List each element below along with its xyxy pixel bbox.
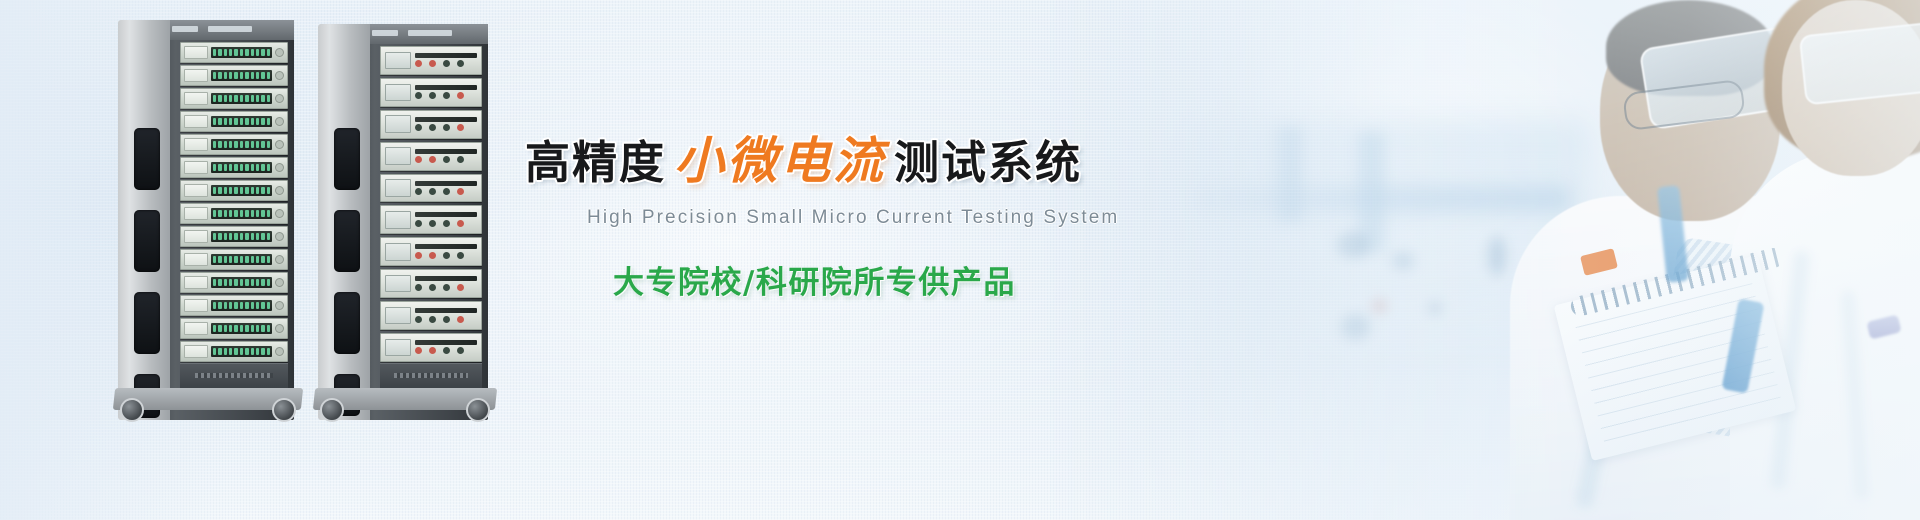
channel-led [256,164,259,170]
channel-led [213,325,216,331]
module-front-panel [184,345,208,359]
rack-caster [120,398,144,422]
terminal-black [443,124,450,131]
module-terminal-row [415,315,477,323]
rack-module [180,295,288,316]
headline-subtitle-english: High Precision Small Micro Current Testi… [587,207,1165,229]
channel-led [234,302,237,308]
channel-led [229,118,232,124]
rack-brand-label [372,28,480,37]
channel-led [261,256,264,262]
rack-cabinet [362,24,488,420]
channel-led [224,49,227,55]
channel-led [256,210,259,216]
channel-led [229,302,232,308]
terminal-red [457,92,464,99]
channel-led [267,210,270,216]
module-display [385,275,411,293]
rack-module [180,341,288,362]
channel-led [229,256,232,262]
module-body [415,51,477,71]
channel-led [224,302,227,308]
channel-led [240,210,243,216]
module-display [385,243,411,261]
channel-led [251,256,254,262]
rack-module [180,42,288,63]
rack-caster [272,398,296,422]
channel-led [224,141,227,147]
terminal-black [429,92,436,99]
channel-led [213,95,216,101]
module-channel-strip [211,323,272,334]
channel-led [224,118,227,124]
channel-led [245,118,248,124]
channel-led [267,49,270,55]
channel-led [229,325,232,331]
channel-led [267,187,270,193]
channel-led [256,302,259,308]
channel-led [256,187,259,193]
terminal-black [415,316,422,323]
channel-led [256,233,259,239]
module-front-panel [184,299,208,313]
channel-led [213,348,216,354]
rack-module-stack [380,46,482,362]
channel-led [224,279,227,285]
rack-module [380,142,482,171]
channel-led [245,210,248,216]
channel-led [234,118,237,124]
module-knob [275,301,284,310]
module-front-panel [184,230,208,244]
channel-led [240,279,243,285]
module-display [385,307,411,325]
channel-led [251,118,254,124]
rack-top-cap [162,20,294,40]
channel-led [218,187,221,193]
channel-led [213,72,216,78]
channel-led [224,325,227,331]
channel-led [229,164,232,170]
terminal-black [443,156,450,163]
rack-module [380,205,482,234]
terminal-red [415,252,422,259]
channel-led [234,49,237,55]
channel-led [213,118,216,124]
channel-led [261,302,264,308]
channel-led [218,49,221,55]
module-front-panel [184,184,208,198]
channel-led [234,187,237,193]
rack-brand-label [172,24,286,33]
channel-led [213,187,216,193]
module-display [385,211,411,229]
channel-led [261,72,264,78]
channel-led [213,302,216,308]
channel-led [261,118,264,124]
channel-led [256,325,259,331]
channel-led [240,325,243,331]
module-terminal-row [415,92,477,100]
channel-led [256,95,259,101]
channel-led [234,256,237,262]
channel-led [267,325,270,331]
channel-led [240,164,243,170]
channel-led [229,233,232,239]
channel-led [224,164,227,170]
module-knob [275,232,284,241]
module-knob [275,71,284,80]
rack-module [180,203,288,224]
module-front-panel [184,138,208,152]
module-body [415,210,477,230]
module-terminal-row [415,188,477,196]
channel-led [256,141,259,147]
channel-led [245,141,248,147]
terminal-black [443,220,450,227]
terminal-black [443,60,450,67]
module-channel-strip [211,47,272,58]
module-readout-bar [415,212,477,217]
module-channel-strip [211,139,272,150]
channel-led [234,325,237,331]
channel-led [245,233,248,239]
rack-module [180,180,288,201]
channel-led [240,95,243,101]
terminal-black [429,188,436,195]
channel-led [261,164,264,170]
module-channel-strip [211,208,272,219]
module-front-panel [184,253,208,267]
terminal-black [443,284,450,291]
module-body [415,146,477,166]
channel-led [267,72,270,78]
module-channel-strip [211,116,272,127]
module-channel-strip [211,70,272,81]
terminal-red [415,60,422,67]
channel-led [224,187,227,193]
channel-led [234,95,237,101]
channel-led [229,72,232,78]
channel-led [267,118,270,124]
module-terminal-row [415,347,477,355]
channel-led [213,49,216,55]
rack-module [380,237,482,266]
rack-module [180,65,288,86]
channel-led [261,348,264,354]
channel-led [251,49,254,55]
module-knob [275,48,284,57]
terminal-black [429,284,436,291]
rack-module [180,111,288,132]
channel-led [261,325,264,331]
channel-led [240,141,243,147]
channel-led [213,164,216,170]
module-display [385,52,411,70]
module-front-panel [184,115,208,129]
module-knob [275,117,284,126]
channel-led [251,72,254,78]
channel-led [267,95,270,101]
channel-led [218,348,221,354]
rack-module [380,174,482,203]
module-knob [275,347,284,356]
channel-led [234,141,237,147]
module-readout-bar [415,181,477,186]
channel-led [245,164,248,170]
module-readout-bar [415,149,477,154]
channel-led [245,72,248,78]
channel-led [218,141,221,147]
module-channel-strip [211,346,272,357]
module-readout-bar [415,244,477,249]
instrument-rack-multichannel [118,20,294,420]
channel-led [251,164,254,170]
module-channel-strip [211,231,272,242]
channel-led [229,279,232,285]
channel-led [240,302,243,308]
banner-text-block: 高精度小微电流测试系统 High Precision Small Micro C… [525,130,1165,302]
headline-part2: 小微电流 [666,131,894,190]
channel-led [218,233,221,239]
channel-led [234,210,237,216]
module-front-panel [184,69,208,83]
channel-led [234,164,237,170]
channel-led [234,72,237,78]
module-readout-bar [415,340,477,345]
terminal-black [457,252,464,259]
rack-side-cutout [134,128,160,190]
module-terminal-row [415,251,477,259]
rack-module [380,110,482,139]
channel-led [240,256,243,262]
channel-led [234,348,237,354]
rack-module [180,249,288,270]
rack-side-cutout [334,292,360,354]
channel-led [240,233,243,239]
channel-led [256,49,259,55]
headline-part3: 测试系统 [894,136,1082,189]
module-display [385,147,411,165]
terminal-black [457,347,464,354]
channel-led [224,233,227,239]
module-body [415,82,477,102]
channel-led [267,302,270,308]
module-channel-strip [211,162,272,173]
terminal-black [443,188,450,195]
channel-led [245,187,248,193]
channel-led [245,95,248,101]
channel-led [224,95,227,101]
channel-led [251,187,254,193]
module-readout-bar [415,85,477,90]
module-knob [275,324,284,333]
module-channel-strip [211,185,272,196]
terminal-black [457,156,464,163]
module-readout-bar [415,53,477,58]
module-front-panel [184,276,208,290]
instrument-rack-sourcemeter [318,24,488,420]
channel-led [251,302,254,308]
module-display [385,84,411,102]
module-body [415,274,477,294]
terminal-black [415,284,422,291]
module-body [415,178,477,198]
module-channel-strip [211,254,272,265]
terminal-red [415,347,422,354]
terminal-black [443,252,450,259]
channel-led [267,279,270,285]
channel-led [261,279,264,285]
rack-top-cap [362,24,488,44]
channel-led [256,72,259,78]
rack-cabinet [162,20,294,420]
module-body [415,338,477,358]
terminal-black [415,92,422,99]
channel-led [251,210,254,216]
terminal-black [443,316,450,323]
channel-led [224,348,227,354]
rack-module [180,272,288,293]
rack-module [180,157,288,178]
module-body [415,114,477,134]
module-front-panel [184,207,208,221]
channel-led [229,210,232,216]
channel-led [229,141,232,147]
rack-side-cutout [334,210,360,272]
terminal-red [457,220,464,227]
rack-module [380,269,482,298]
channel-led [267,141,270,147]
module-knob [275,278,284,287]
module-front-panel [184,322,208,336]
channel-led [229,187,232,193]
channel-led [245,256,248,262]
terminal-black [415,188,422,195]
channel-led [224,72,227,78]
rack-side-cutout [134,210,160,272]
terminal-black [457,60,464,67]
channel-led [267,256,270,262]
module-channel-strip [211,93,272,104]
channel-led [251,325,254,331]
channel-led [218,72,221,78]
rack-caster [320,398,344,422]
channel-led [218,279,221,285]
channel-led [261,233,264,239]
module-knob [275,140,284,149]
module-terminal-row [415,219,477,227]
rack-caster [466,398,490,422]
channel-led [261,141,264,147]
channel-led [234,279,237,285]
terminal-black [429,220,436,227]
module-front-panel [184,92,208,106]
module-knob [275,209,284,218]
rack-module [180,318,288,339]
rack-module [380,333,482,362]
terminal-red [457,188,464,195]
module-channel-strip [211,300,272,311]
terminal-red [457,284,464,291]
channel-led [240,348,243,354]
headline-part1: 高精度 [525,136,666,189]
channel-led [245,325,248,331]
terminal-black [415,124,422,131]
module-knob [275,186,284,195]
terminal-red [457,124,464,131]
module-readout-bar [415,308,477,313]
channel-led [218,164,221,170]
channel-led [256,118,259,124]
terminal-black [443,92,450,99]
terminal-red [429,60,436,67]
module-terminal-row [415,156,477,164]
rack-module [380,301,482,330]
channel-led [261,187,264,193]
channel-led [224,256,227,262]
terminal-red [457,316,464,323]
channel-led [245,279,248,285]
channel-led [251,348,254,354]
product-banner: 高精度小微电流测试系统 High Precision Small Micro C… [0,0,1920,520]
module-front-panel [184,46,208,60]
channel-led [213,210,216,216]
channel-led [251,141,254,147]
module-body [415,242,477,262]
module-knob [275,94,284,103]
terminal-red [429,252,436,259]
module-terminal-row [415,283,477,291]
channel-led [261,95,264,101]
channel-led [251,233,254,239]
channel-led [229,95,232,101]
terminal-red [429,156,436,163]
rack-module [180,226,288,247]
channel-led [245,49,248,55]
module-display [385,339,411,357]
channel-led [213,256,216,262]
channel-led [218,302,221,308]
channel-led [240,72,243,78]
rack-module [180,134,288,155]
module-terminal-row [415,60,477,68]
module-readout-bar [415,276,477,281]
rack-vent [394,373,467,378]
channel-led [218,325,221,331]
channel-led [213,279,216,285]
channel-led [224,210,227,216]
channel-led [267,348,270,354]
rack-module [180,88,288,109]
channel-led [251,95,254,101]
module-terminal-row [415,124,477,132]
channel-led [251,279,254,285]
channel-led [256,279,259,285]
channel-led [213,141,216,147]
channel-led [218,118,221,124]
channel-led [261,210,264,216]
channel-led [229,49,232,55]
rack-module-stack [180,42,288,362]
channel-led [256,256,259,262]
channel-led [218,95,221,101]
terminal-black [415,220,422,227]
channel-led [218,210,221,216]
channel-led [267,233,270,239]
rack-side-cutout [134,292,160,354]
terminal-black [429,124,436,131]
